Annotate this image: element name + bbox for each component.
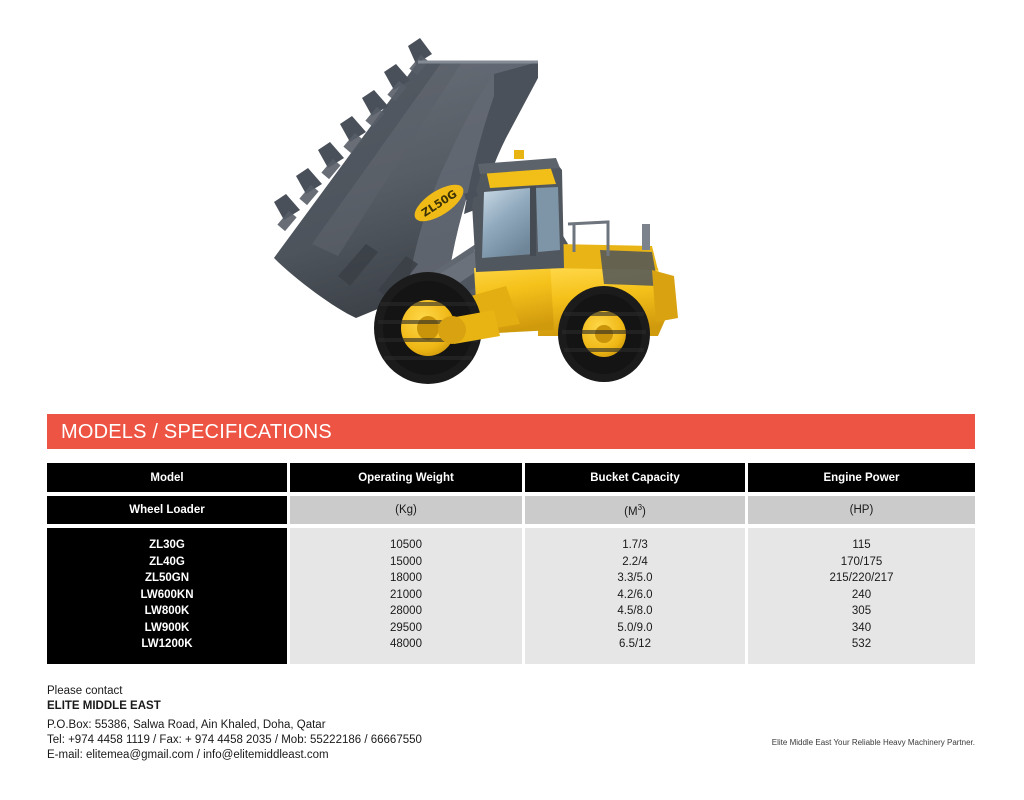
table-cell: 532 <box>748 636 975 653</box>
header-power: Engine Power <box>748 463 975 492</box>
table-cell: ZL30G <box>47 537 287 554</box>
product-image: ZL50G <box>0 0 1024 400</box>
operator-cab <box>464 150 564 272</box>
cab-side-window <box>536 187 560 252</box>
column-model: ZL30GZL40GZL50GNLW600KNLW800KLW900KLW120… <box>47 528 290 664</box>
unit-bucket: (M3) <box>525 496 748 524</box>
table-cell: 170/175 <box>748 554 975 571</box>
table-cell: LW600KN <box>47 587 287 604</box>
contact-prompt: Please contact <box>47 684 422 699</box>
table-cell: 15000 <box>290 554 522 571</box>
table-units-row: Wheel Loader (Kg) (M3) (HP) <box>47 496 975 524</box>
table-cell: 3.3/5.0 <box>525 570 745 587</box>
table-cell: LW800K <box>47 603 287 620</box>
section-title: MODELS / SPECIFICATIONS <box>47 422 332 442</box>
header-model: Model <box>47 463 290 492</box>
header-weight: Operating Weight <box>290 463 525 492</box>
table-header-row: Model Operating Weight Bucket Capacity E… <box>47 463 975 492</box>
table-cell: 4.2/6.0 <box>525 587 745 604</box>
table-cell: 215/220/217 <box>748 570 975 587</box>
contact-block: Please contact ELITE MIDDLE EAST P.O.Box… <box>47 684 422 763</box>
table-cell: 115 <box>748 537 975 554</box>
table-cell: 5.0/9.0 <box>525 620 745 637</box>
model-list: ZL30GZL40GZL50GNLW600KNLW800KLW900KLW120… <box>47 528 287 664</box>
rear-wheel <box>558 286 650 382</box>
table-cell: 4.5/8.0 <box>525 603 745 620</box>
roof-beacon <box>514 150 524 159</box>
column-weight: 10500150001800021000280002950048000 <box>290 528 525 664</box>
wheel-loader-illustration: ZL50G <box>238 18 688 388</box>
table-cell: 29500 <box>290 620 522 637</box>
table-cell: LW1200K <box>47 636 287 653</box>
brochure-page: ZL50G <box>0 0 1024 800</box>
table-cell: 48000 <box>290 636 522 653</box>
table-body-row: ZL30GZL40GZL50GNLW600KNLW800KLW900KLW120… <box>47 528 975 664</box>
table-cell: ZL50GN <box>47 570 287 587</box>
bucket-list: 1.7/32.2/43.3/5.04.2/6.04.5/8.05.0/9.06.… <box>525 528 745 664</box>
table-cell: 10500 <box>290 537 522 554</box>
unit-model: Wheel Loader <box>47 496 290 524</box>
specifications-table: Model Operating Weight Bucket Capacity E… <box>47 463 975 664</box>
table-cell: ZL40G <box>47 554 287 571</box>
exhaust-stack <box>642 224 650 250</box>
footer-tagline: Elite Middle East Your Reliable Heavy Ma… <box>0 738 975 747</box>
weight-list: 10500150001800021000280002950048000 <box>290 528 522 664</box>
unit-power: (HP) <box>748 496 975 524</box>
table-cell: 1.7/3 <box>525 537 745 554</box>
header-bucket: Bucket Capacity <box>525 463 748 492</box>
contact-email: E-mail: elitemea@gmail.com / info@elitem… <box>47 748 422 763</box>
table-cell: 21000 <box>290 587 522 604</box>
table-cell: 240 <box>748 587 975 604</box>
column-power: 115170/175215/220/217240305340532 <box>748 528 975 664</box>
table-cell: 340 <box>748 620 975 637</box>
unit-bucket-base: (M <box>624 505 637 517</box>
table-cell: 2.2/4 <box>525 554 745 571</box>
column-bucket: 1.7/32.2/43.3/5.04.2/6.04.5/8.05.0/9.06.… <box>525 528 748 664</box>
contact-address: P.O.Box: 55386, Salwa Road, Ain Khaled, … <box>47 718 422 733</box>
section-banner: MODELS / SPECIFICATIONS <box>47 414 975 449</box>
unit-weight: (Kg) <box>290 496 525 524</box>
table-cell: 18000 <box>290 570 522 587</box>
table-cell: 305 <box>748 603 975 620</box>
table-cell: LW900K <box>47 620 287 637</box>
unit-bucket-tail: ) <box>642 505 646 517</box>
power-list: 115170/175215/220/217240305340532 <box>748 528 975 664</box>
contact-company: ELITE MIDDLE EAST <box>47 699 422 714</box>
cab-windshield <box>482 188 534 258</box>
table-cell: 28000 <box>290 603 522 620</box>
table-cell: 6.5/12 <box>525 636 745 653</box>
